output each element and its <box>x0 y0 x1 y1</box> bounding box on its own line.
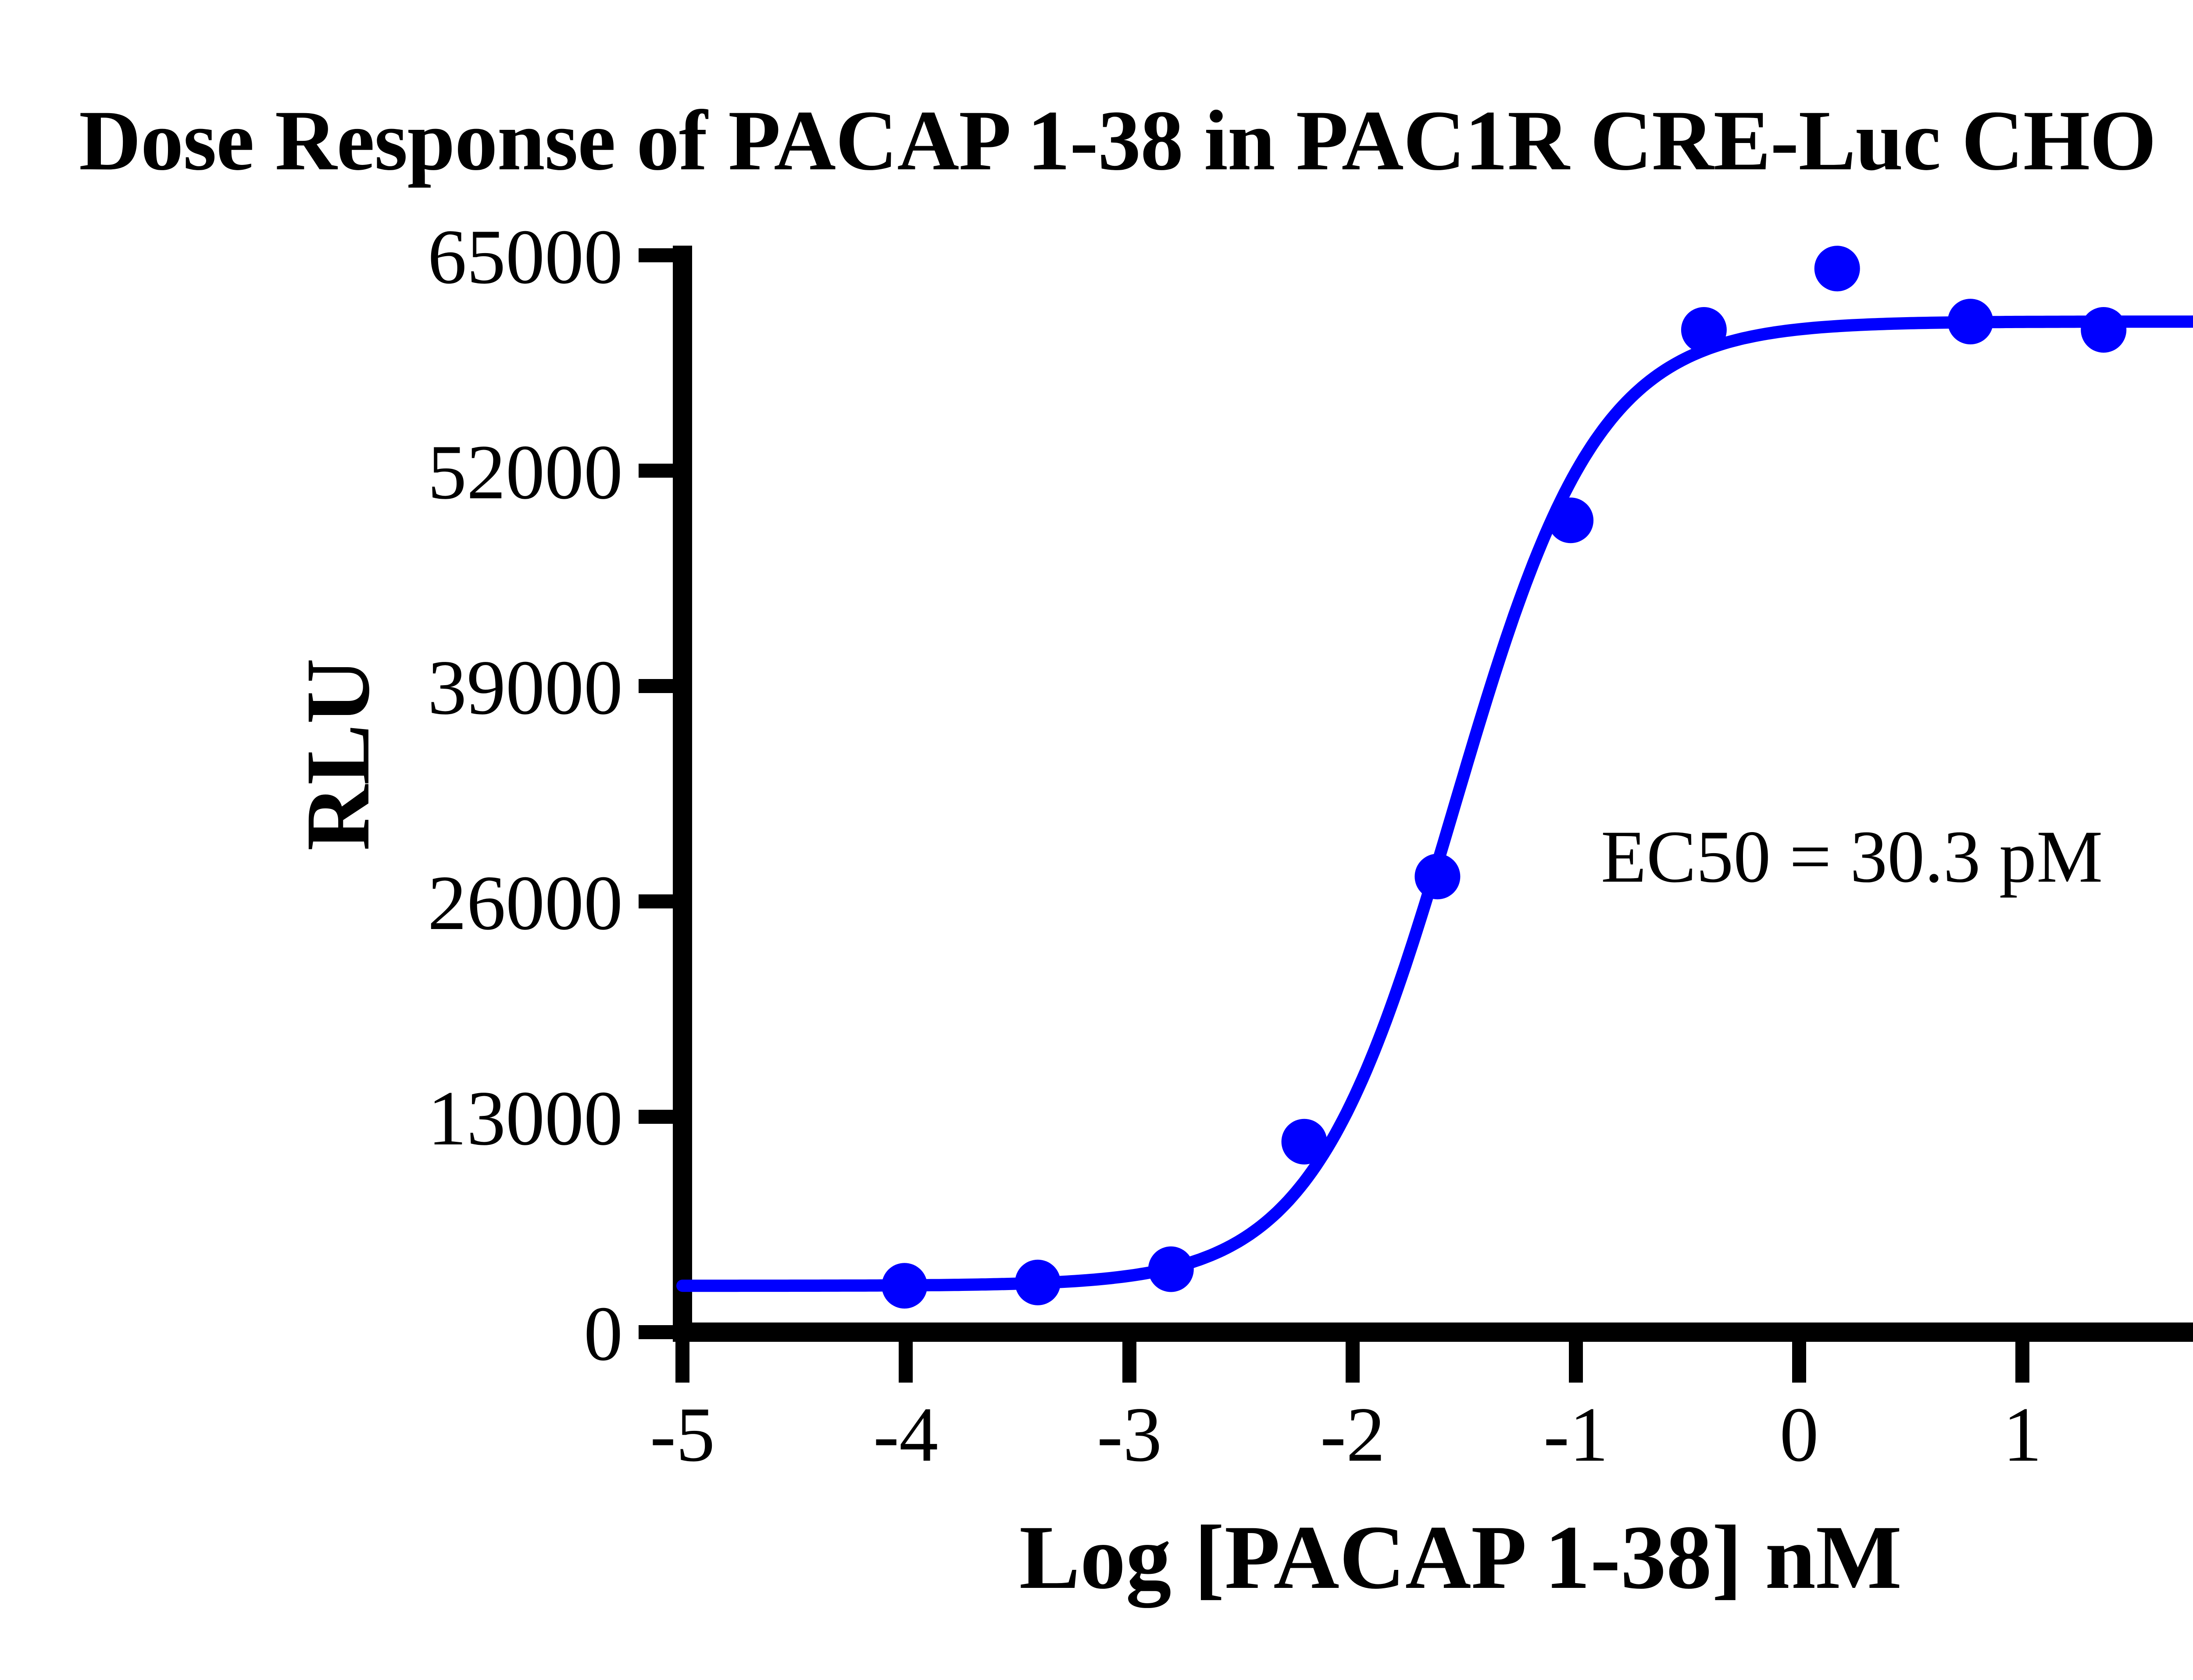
ec50-annotation: EC50 = 30.3 pM <box>1601 815 2103 898</box>
plot-area: 0 13000 26000 39000 52000 65000 -5 -4 -3… <box>0 0 2193 1680</box>
x-tick-label-neg5: -5 <box>650 1391 715 1478</box>
data-point <box>1681 307 1727 353</box>
y-tick-label-26000: 26000 <box>428 859 623 946</box>
data-point <box>1148 1247 1194 1292</box>
data-point <box>1015 1260 1061 1305</box>
data-point <box>1548 497 1593 543</box>
fit-curve <box>682 322 2193 1286</box>
x-tick-label-neg4: -4 <box>873 1391 938 1478</box>
x-tick-label-0: 0 <box>1780 1391 1819 1478</box>
data-point <box>1414 854 1460 899</box>
data-point-group <box>882 246 2193 1308</box>
y-tick-label-39000: 39000 <box>428 644 623 731</box>
x-axis-title: Log [PACAP 1-38] nM <box>1019 1507 1902 1608</box>
y-axis-title: RLU <box>287 658 388 851</box>
x-tick-label-1: 1 <box>2003 1391 2042 1478</box>
data-point <box>1282 1119 1327 1165</box>
data-point <box>882 1263 927 1308</box>
data-point <box>1948 299 1993 344</box>
x-tick-label-neg2: -2 <box>1320 1391 1385 1478</box>
x-tick-label-neg1: -1 <box>1543 1391 1608 1478</box>
y-tick-label-65000: 65000 <box>428 213 623 300</box>
y-tick-label-13000: 13000 <box>428 1075 623 1162</box>
y-tick-label-52000: 52000 <box>428 429 623 515</box>
x-tick-label-neg3: -3 <box>1097 1391 1162 1478</box>
chart-figure: Dose Response of PACAP 1-38 in PAC1R CRE… <box>0 0 2193 1680</box>
data-point <box>1814 246 1860 291</box>
data-point <box>2081 307 2126 353</box>
y-tick-label-0: 0 <box>584 1290 623 1377</box>
